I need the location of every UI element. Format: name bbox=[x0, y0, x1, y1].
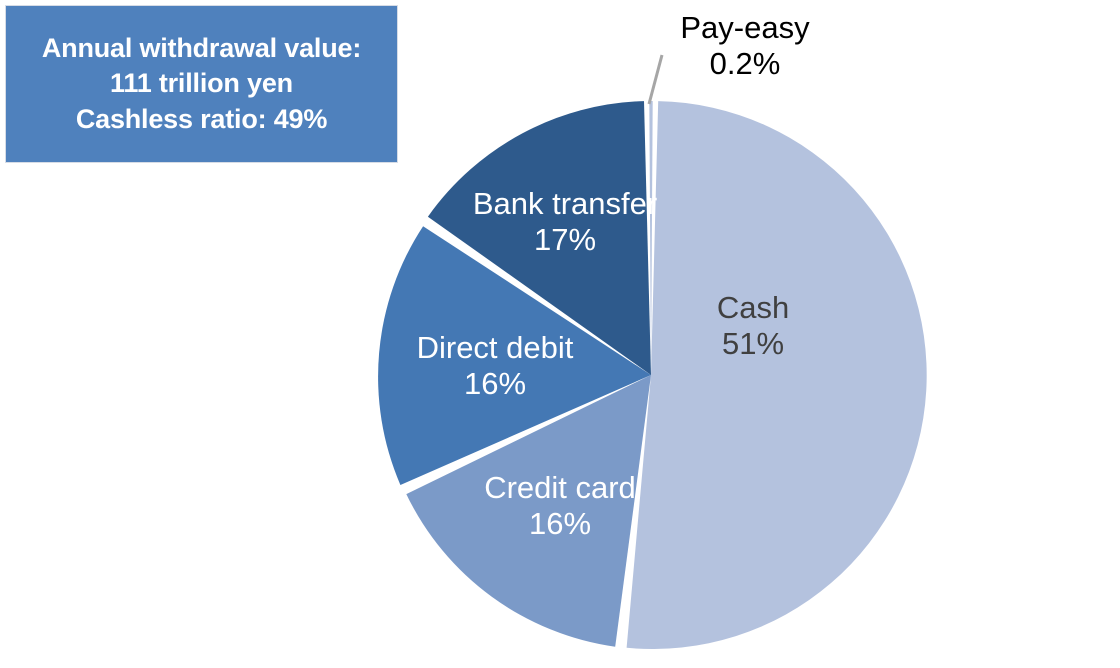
pay-easy-callout-line bbox=[649, 55, 662, 104]
summary-box: Annual withdrawal value: 111 trillion ye… bbox=[5, 5, 398, 163]
summary-line-3: Cashless ratio: 49% bbox=[76, 102, 327, 138]
summary-line-1: Annual withdrawal value: bbox=[42, 31, 361, 67]
pie-slice-cash[interactable] bbox=[627, 101, 927, 649]
summary-line-2: 111 trillion yen bbox=[110, 66, 293, 102]
